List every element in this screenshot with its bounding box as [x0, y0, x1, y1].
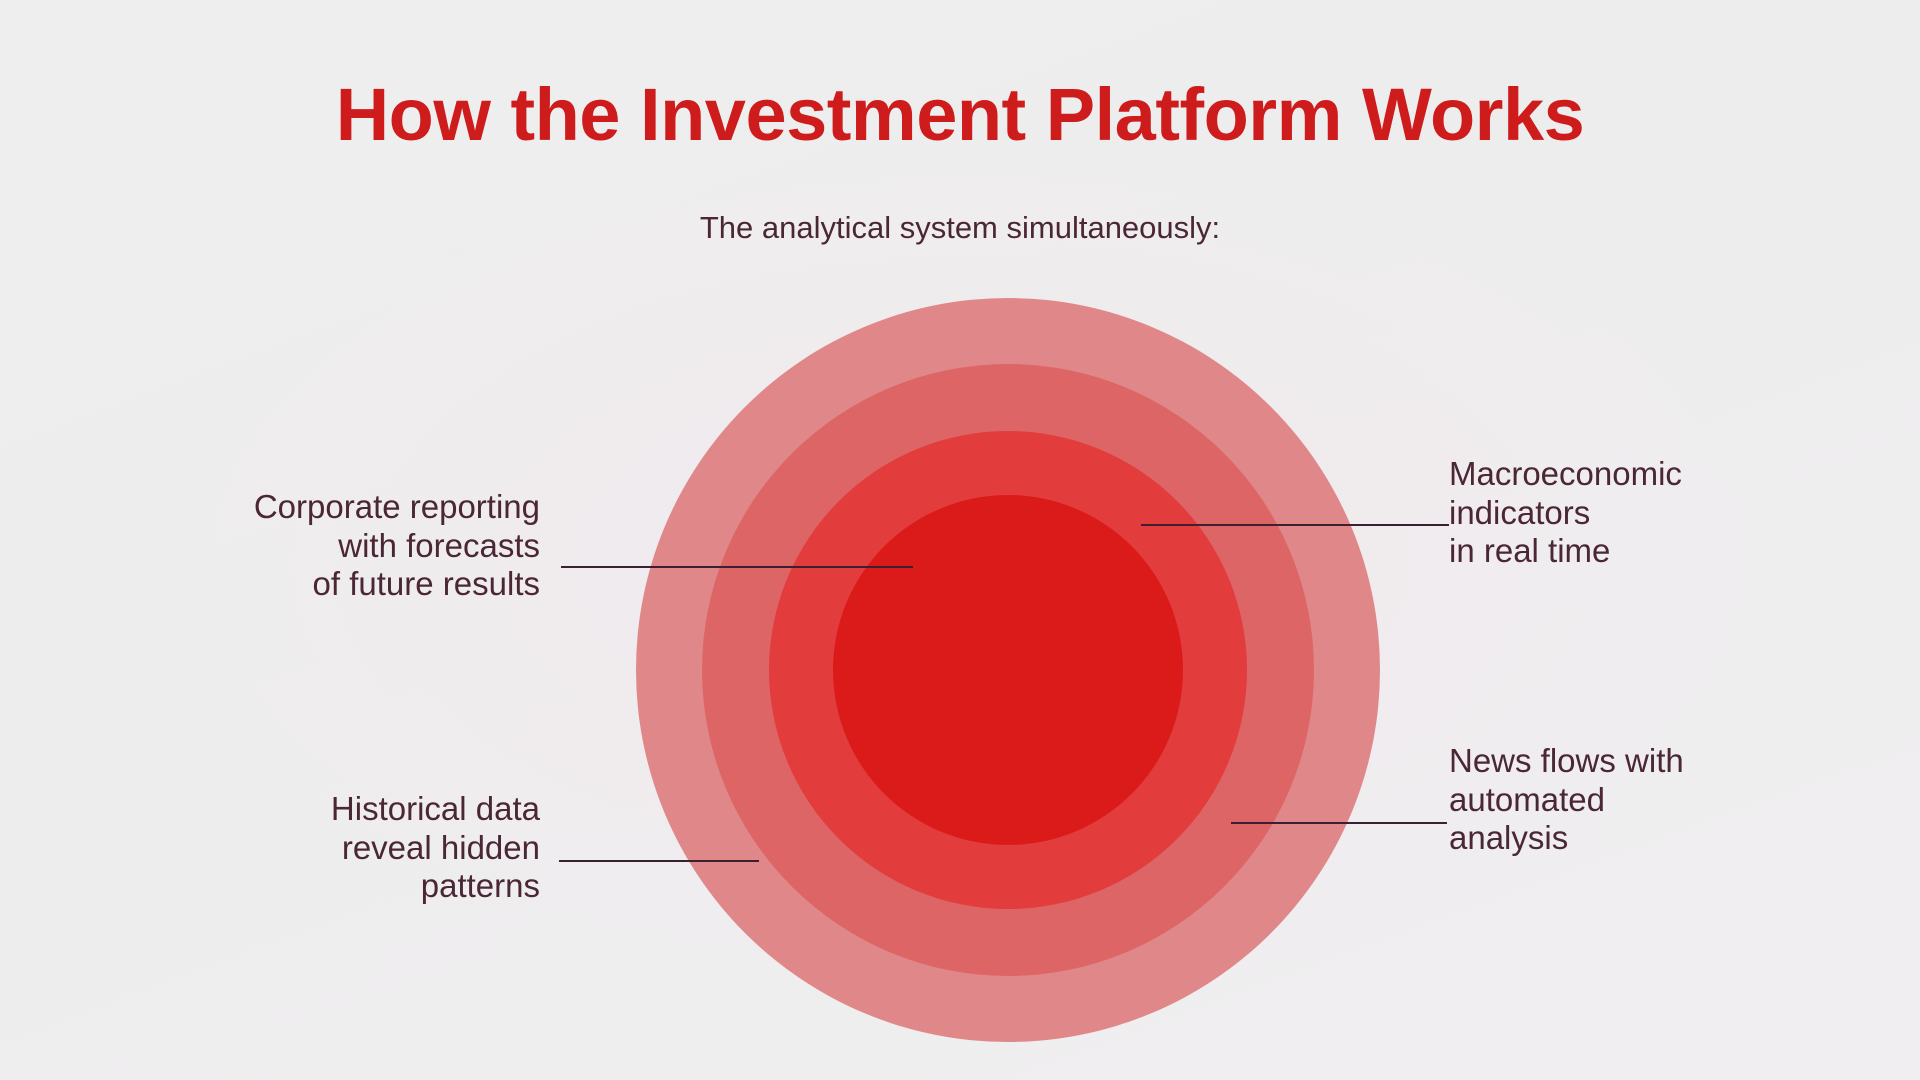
callout-macroeconomic-indicators: Macroeconomic indicators in real time: [1449, 455, 1869, 571]
callout-corporate-reporting: Corporate reporting with forecasts of fu…: [90, 488, 540, 604]
leader-line-news: [1231, 822, 1447, 824]
leader-line-corporate: [561, 566, 913, 568]
callout-historical-data: Historical data reveal hidden patterns: [140, 790, 540, 906]
page-title: How the Investment Platform Works: [0, 78, 1920, 152]
infographic-canvas: How the Investment Platform Works The an…: [0, 0, 1920, 1080]
core-ring: [833, 495, 1183, 845]
leader-line-macro: [1141, 524, 1449, 526]
leader-line-historical: [559, 860, 759, 862]
concentric-circles-diagram: [636, 298, 1380, 1042]
page-subtitle: The analytical system simultaneously:: [0, 212, 1920, 243]
callout-news-flows: News flows with automated analysis: [1449, 742, 1869, 858]
